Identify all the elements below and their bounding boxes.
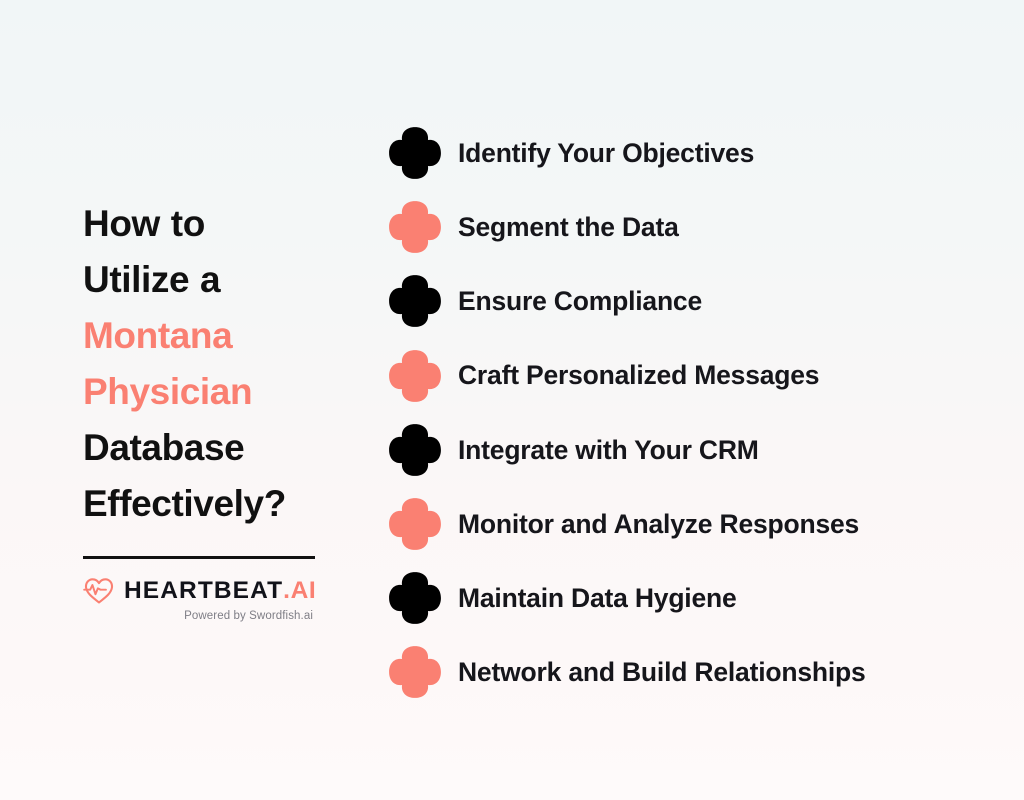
step-item[interactable]: Segment the Data — [388, 190, 866, 264]
step-bullet-quatrefoil-icon — [388, 274, 442, 328]
logo-wordmark-suffix: .AI — [283, 577, 316, 604]
step-bullet-quatrefoil-icon — [388, 571, 442, 625]
infographic-canvas: How to Utilize a Montana Physician Datab… — [0, 0, 1024, 800]
title-line-5: Database — [83, 427, 244, 468]
heartbeat-pulse-heart-icon — [83, 576, 115, 606]
step-item[interactable]: Monitor and Analyze Responses — [388, 487, 866, 561]
brand-logo[interactable]: HEARTBEAT.AI Powered by Swordfish.ai — [83, 576, 315, 623]
step-label: Network and Build Relationships — [458, 659, 866, 686]
step-bullet-quatrefoil-icon — [388, 423, 442, 477]
step-bullet-quatrefoil-icon — [388, 200, 442, 254]
step-label: Craft Personalized Messages — [458, 362, 819, 389]
step-bullet-quatrefoil-icon — [388, 645, 442, 699]
step-item[interactable]: Ensure Compliance — [388, 264, 866, 338]
step-label: Ensure Compliance — [458, 288, 702, 315]
logo-wordmark: HEARTBEAT.AI — [124, 579, 316, 604]
step-label: Monitor and Analyze Responses — [458, 511, 859, 538]
step-bullet-quatrefoil-icon — [388, 126, 442, 180]
step-item[interactable]: Identify Your Objectives — [388, 116, 866, 190]
title-divider — [83, 556, 315, 559]
step-label: Maintain Data Hygiene — [458, 585, 737, 612]
logo-tagline: Powered by Swordfish.ai — [83, 611, 315, 623]
title-line-4-accent: Physician — [83, 371, 252, 412]
title-line-1: How to — [83, 203, 205, 244]
step-bullet-quatrefoil-icon — [388, 497, 442, 551]
step-bullet-quatrefoil-icon — [388, 349, 442, 403]
title-line-6: Effectively? — [83, 483, 286, 524]
step-item[interactable]: Network and Build Relationships — [388, 635, 866, 709]
step-item[interactable]: Integrate with Your CRM — [388, 413, 866, 487]
step-label: Segment the Data — [458, 214, 679, 241]
title-line-3-accent: Montana — [83, 315, 232, 356]
logo-row: HEARTBEAT.AI — [83, 576, 315, 606]
steps-list: Identify Your ObjectivesSegment the Data… — [388, 116, 866, 710]
step-label: Identify Your Objectives — [458, 140, 754, 167]
title-line-2: Utilize a — [83, 259, 220, 300]
title-panel: How to Utilize a Montana Physician Datab… — [83, 196, 333, 623]
logo-wordmark-main: HEARTBEAT — [124, 577, 283, 604]
step-item[interactable]: Maintain Data Hygiene — [388, 561, 866, 635]
step-item[interactable]: Craft Personalized Messages — [388, 339, 866, 413]
page-title: How to Utilize a Montana Physician Datab… — [83, 196, 333, 532]
step-label: Integrate with Your CRM — [458, 437, 759, 464]
